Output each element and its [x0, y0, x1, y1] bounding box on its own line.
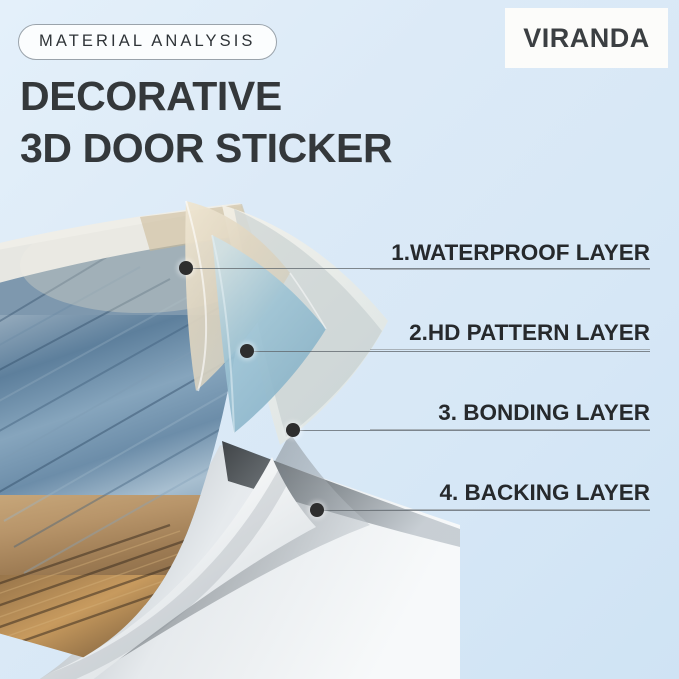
page-title: DECORATIVE 3D DOOR STICKER: [20, 70, 392, 174]
layer-label-3: 3. BONDING LAYER: [370, 400, 650, 430]
poster-canvas: MATERIAL ANALYSIS DECORATIVE 3D DOOR STI…: [0, 0, 679, 679]
callout-dot-4: [310, 503, 324, 517]
layer-label-4: 4. BACKING LAYER: [370, 480, 650, 510]
layer-rule-4: [370, 509, 650, 510]
callout-dot-2: [240, 344, 254, 358]
leader-line-4: [317, 510, 650, 511]
layer-rule-1: [370, 269, 650, 270]
leader-line-2: [247, 351, 650, 352]
callout-dot-1: [179, 261, 193, 275]
headline-line-1: DECORATIVE: [20, 73, 282, 119]
brand-logo-text: VIRANDA: [523, 23, 650, 54]
layer-label-4-text: 4. BACKING LAYER: [370, 480, 650, 509]
layer-label-2-text: 2.HD PATTERN LAYER: [370, 320, 650, 349]
brand-logo: VIRANDA: [505, 8, 668, 68]
layer-label-1-text: 1.WATERPROOF LAYER: [370, 240, 650, 269]
badge-material-analysis: MATERIAL ANALYSIS: [18, 24, 277, 60]
layer-label-1: 1.WATERPROOF LAYER: [370, 240, 650, 270]
headline-line-2: 3D DOOR STICKER: [20, 122, 392, 174]
leader-line-3: [293, 430, 650, 431]
layer-label-3-text: 3. BONDING LAYER: [370, 400, 650, 429]
layer-label-2: 2.HD PATTERN LAYER: [370, 320, 650, 350]
callout-dot-3: [286, 423, 300, 437]
layer-rule-2: [370, 349, 650, 350]
layer-rule-3: [370, 429, 650, 430]
